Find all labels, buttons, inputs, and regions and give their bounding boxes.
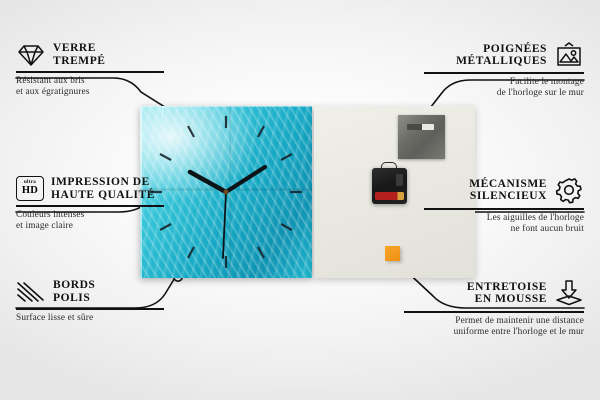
orange-foam-spacer [385,246,400,261]
callout-rule [424,208,584,210]
callout-verre-trempe: VERRE TREMPÉ Résistant aux bris et aux é… [16,42,164,98]
second-hand [223,192,226,258]
minute-hand [226,167,265,192]
callout-title: POIGNÉES MÉTALLIQUES [456,43,547,68]
callout-title: ENTRETOISE EN MOUSSE [467,281,547,306]
movement-setting-dial [396,174,403,186]
aa-battery [375,192,404,200]
callout-rule [16,71,164,73]
hour-hand [190,172,226,192]
polished-edge-icon [16,280,46,304]
callout-poignees-metalliques: POIGNÉES MÉTALLIQUES Facilite le montage… [424,42,584,99]
callout-desc: Les aiguilles de l'horloge ne font aucun… [424,213,584,235]
callout-title: VERRE TREMPÉ [53,42,106,67]
callout-rule [16,205,164,207]
callout-desc: Facilite le montage de l'horloge sur le … [424,77,584,99]
ultra-hd-icon: ultra HD [16,176,44,201]
callout-rule [16,308,164,310]
hands-center-cap [223,189,228,194]
metal-hanger-plate [398,115,445,159]
callout-title: IMPRESSION DE HAUTE QUALITÉ [51,176,155,201]
callout-rule [424,72,584,74]
hanger-slot [407,124,434,130]
callout-title: MÉCANISME SILENCIEUX [469,178,547,203]
quartz-movement-box [372,168,407,204]
wall-frame-icon [554,42,584,68]
foam-spacer-icon [554,279,584,307]
clock-dial [140,106,312,278]
callout-rule [404,311,584,313]
movement-hanger-hook [381,162,397,170]
callout-desc: Surface lisse et sûre [16,313,164,324]
callout-bords-polis: BORDS POLIS Surface lisse et sûre [16,279,164,324]
callout-desc: Couleurs intenses et image claire [16,210,164,232]
callout-mecanisme-silencieux: MÉCANISME SILENCIEUX Les aiguilles de l'… [424,176,584,235]
callout-desc: Résistant aux bris et aux égratignures [16,76,164,98]
callout-desc: Permet de maintenir une distance uniform… [404,316,584,338]
callout-impression-haute-qualite: ultra HD IMPRESSION DE HAUTE QUALITÉ Cou… [16,176,164,232]
callout-title: BORDS POLIS [53,279,95,304]
gear-icon [554,176,584,204]
callout-entretoise-en-mousse: ENTRETOISE EN MOUSSE Permet de maintenir… [404,279,584,338]
diamond-icon [16,43,46,67]
infographic-stage: VERRE TREMPÉ Résistant aux bris et aux é… [0,0,600,400]
